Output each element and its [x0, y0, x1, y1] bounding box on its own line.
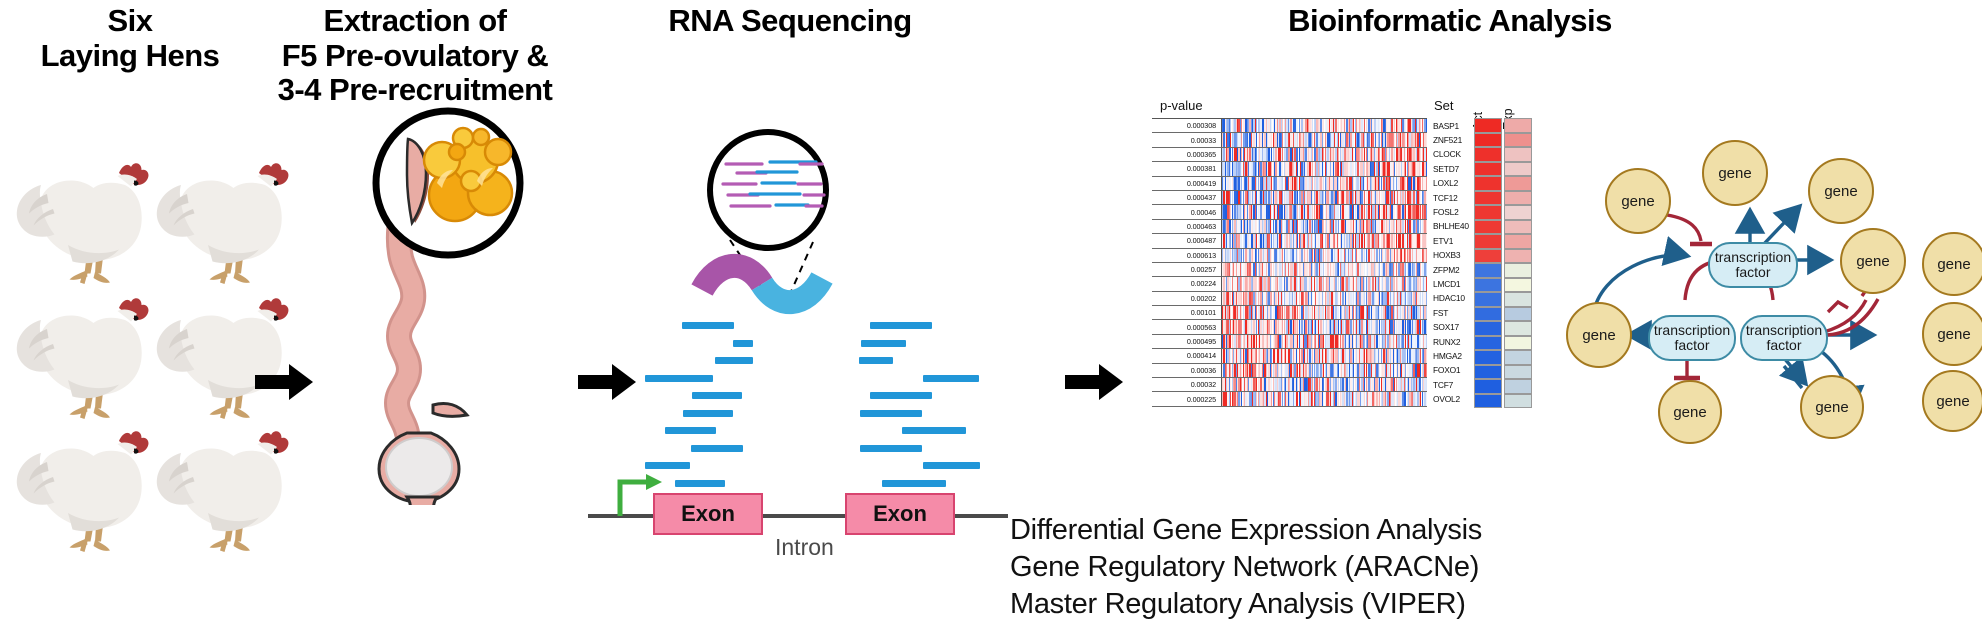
heatmap-signature-strip — [1221, 205, 1427, 218]
heatmap-signature-strip — [1221, 335, 1427, 348]
transcription-factor-node[interactable]: transcriptionfactor — [1648, 315, 1736, 361]
heatmap-tick — [1426, 392, 1427, 405]
tf-label: transcriptionfactor — [1654, 323, 1730, 354]
read-segment — [882, 480, 946, 487]
heatmap-tick — [1426, 378, 1427, 391]
heatmap-gene-label: CLOCK — [1433, 149, 1461, 159]
gene-node-label: gene — [1856, 253, 1889, 270]
heatmap-signature-strip — [1221, 392, 1427, 405]
heatmap-row: 0.000365CLOCK — [1152, 148, 1427, 162]
read-segment — [645, 375, 713, 382]
heatmap-pvalue: 0.00036 — [1152, 366, 1221, 375]
heatmap-row: 0.00224LMCD1 — [1152, 277, 1427, 291]
expression-cell — [1504, 394, 1532, 409]
activity-cell — [1474, 191, 1502, 206]
heatmap-signature-strip — [1221, 148, 1427, 161]
heatmap-row: 0.00036FOXO1 — [1152, 364, 1427, 378]
heatmap-row: 0.00257ZFPM2 — [1152, 263, 1427, 277]
heatmap-tick — [1426, 263, 1427, 276]
transcription-factor-node[interactable]: transcriptionfactor — [1708, 242, 1798, 288]
expression-cell — [1504, 162, 1532, 177]
heatmap-gene-label: TCF7 — [1433, 380, 1453, 390]
heatmap-tick — [1426, 364, 1427, 377]
read-segment — [860, 410, 922, 417]
heatmap-tick — [1426, 133, 1427, 146]
expression-cell — [1504, 278, 1532, 293]
gene-node-label: gene — [1815, 399, 1848, 416]
read-segment — [665, 427, 716, 434]
heatmap-header-set: Set — [1434, 98, 1454, 113]
activity-cell — [1474, 118, 1502, 133]
heatmap-signature-strip — [1221, 119, 1427, 132]
read-segment — [861, 340, 906, 347]
read-segment — [902, 427, 966, 434]
workflow-figure: Six Laying Hens Extraction of F5 Pre-ovu… — [0, 0, 1982, 644]
heatmap-row: 0.000495RUNX2 — [1152, 335, 1427, 349]
read-segment — [682, 322, 734, 329]
heatmap-pvalue: 0.00224 — [1152, 279, 1221, 288]
activity-cell — [1474, 307, 1502, 322]
hen-icon — [148, 408, 298, 558]
title-line: 3-4 Pre-recruitment — [245, 73, 585, 108]
heatmap-pvalue: 0.000495 — [1152, 337, 1221, 346]
activity-cell — [1474, 278, 1502, 293]
heatmap-signature-strip — [1221, 277, 1427, 290]
activity-cell — [1474, 365, 1502, 380]
heatmap-signature-strip — [1221, 177, 1427, 190]
heatmap-pvalue: 0.000437 — [1152, 193, 1221, 202]
read-segment — [715, 357, 753, 364]
read-segment — [859, 357, 893, 364]
activity-cell — [1474, 394, 1502, 409]
heatmap-row: 0.000487ETV1 — [1152, 234, 1427, 248]
exon-right: Exon — [845, 493, 955, 535]
expression-cell — [1504, 176, 1532, 191]
transcript-ribbon-icon — [702, 266, 822, 302]
heatmap-gene-label: FOXO1 — [1433, 365, 1460, 375]
intron-label: Intron — [775, 534, 834, 561]
heatmap-pvalue: 0.00257 — [1152, 265, 1221, 274]
heatmap-tick — [1426, 119, 1427, 132]
heatmap-gene-label: HMGA2 — [1433, 351, 1462, 361]
flow-arrow-icon — [1065, 362, 1125, 402]
heatmap-gene-label: HOXB3 — [1433, 250, 1460, 260]
expression-cell — [1504, 205, 1532, 220]
expression-cell — [1504, 292, 1532, 307]
read-segment — [691, 445, 743, 452]
heatmap-gene-label: SOX17 — [1433, 322, 1459, 332]
activity-cell — [1474, 336, 1502, 351]
read-segment — [870, 322, 932, 329]
exon-left: Exon — [653, 493, 763, 535]
read-segment — [645, 462, 690, 469]
expression-cell — [1504, 379, 1532, 394]
heatmap-tick — [1426, 349, 1427, 362]
analysis-line: Master Regulatory Analysis (VIPER) — [1010, 586, 1630, 623]
heatmap-gene-label: FOSL2 — [1433, 207, 1459, 217]
heatmap-tick — [1426, 320, 1427, 333]
heatmap-tick — [1426, 220, 1427, 233]
activity-cell — [1474, 220, 1502, 235]
gene-node[interactable]: gene — [1566, 302, 1632, 368]
follicle-inset — [376, 111, 520, 255]
gene-node-label: gene — [1937, 256, 1970, 273]
heatmap-tick — [1426, 205, 1427, 218]
heatmap-tick — [1426, 177, 1427, 190]
heatmap-signature-strip — [1221, 306, 1427, 319]
tf-label: transcriptionfactor — [1715, 250, 1791, 281]
panel-title-bioinformatic: Bioinformatic Analysis — [1100, 4, 1800, 39]
heatmap-signature-strip — [1221, 320, 1427, 333]
activity-cell — [1474, 321, 1502, 336]
gene-node-label: gene — [1582, 327, 1615, 344]
heatmap-signature-strip — [1221, 162, 1427, 175]
heatmap-signature-strip — [1221, 249, 1427, 262]
activity-cell — [1474, 147, 1502, 162]
heatmap-signature-strip — [1221, 234, 1427, 247]
read-segment — [675, 480, 725, 487]
hen-icon — [8, 140, 158, 290]
title-line: F5 Pre-ovulatory & — [245, 39, 585, 74]
heatmap-signature-strip — [1221, 378, 1427, 391]
gene-node-label: gene — [1936, 393, 1969, 410]
heatmap-signature-strip — [1221, 263, 1427, 276]
gene-node-label: gene — [1621, 193, 1654, 210]
hen-icon — [148, 275, 298, 425]
act-exp-columns — [1474, 118, 1534, 408]
heatmap-tick — [1426, 292, 1427, 305]
heatmap-row: 0.00101FST — [1152, 306, 1427, 320]
activity-cell — [1474, 162, 1502, 177]
gene-node[interactable]: gene — [1922, 302, 1982, 366]
activity-cell — [1474, 234, 1502, 249]
title-line: Bioinformatic Analysis — [1100, 4, 1800, 39]
activity-cell — [1474, 292, 1502, 307]
heatmap-row: 0.000308BASP1 — [1152, 119, 1427, 133]
heatmap-row: 0.000563SOX17 — [1152, 320, 1427, 334]
heatmap-header-pvalue: p-value — [1160, 98, 1203, 113]
heatmap-row: 0.00202HDAC10 — [1152, 292, 1427, 306]
heatmap-signature-strip — [1221, 349, 1427, 362]
heatmap-gene-label: LOXL2 — [1433, 178, 1458, 188]
title-line: Six — [0, 4, 260, 39]
panel-title-rnaseq: RNA Sequencing — [600, 4, 980, 39]
heatmap-row: 0.000613HOXB3 — [1152, 249, 1427, 263]
gene-node-label: gene — [1718, 165, 1751, 182]
heatmap-gene-label: RUNX2 — [1433, 337, 1460, 347]
heatmap-pvalue: 0.000563 — [1152, 323, 1221, 332]
heatmap-gene-label: OVOL2 — [1433, 394, 1460, 404]
gene-node-label: gene — [1824, 183, 1857, 200]
heatmap-grid: 0.000308BASP10.00033ZNF5210.000365CLOCK0… — [1152, 118, 1427, 409]
expression-cell — [1504, 336, 1532, 351]
heatmap-row: 0.000419LOXL2 — [1152, 177, 1427, 191]
hen-icon — [8, 275, 158, 425]
gene-regulatory-network: gene gene gene gene gene gene gene gene … — [1540, 120, 1982, 420]
heatmap-signature-strip — [1221, 364, 1427, 377]
activity-cell — [1474, 249, 1502, 264]
gene-node[interactable]: gene — [1808, 158, 1874, 224]
expression-cell — [1504, 249, 1532, 264]
heatmap-tick — [1426, 306, 1427, 319]
heatmap-gene-label: BHLHE40 — [1433, 221, 1469, 231]
heatmap-tick — [1426, 162, 1427, 175]
heatmap-pvalue: 0.000308 — [1152, 121, 1221, 130]
read-segment — [860, 445, 922, 452]
hen-icon — [8, 408, 158, 558]
heatmap-gene-label: ZNF521 — [1433, 135, 1462, 145]
heatmap-tick — [1426, 335, 1427, 348]
heatmap-pvalue: 0.000487 — [1152, 236, 1221, 245]
heatmap-pvalue: 0.00033 — [1152, 136, 1221, 145]
tf-label: transcriptionfactor — [1746, 323, 1822, 354]
heatmap-signature-strip — [1221, 191, 1427, 204]
read-segment — [692, 392, 742, 399]
heatmap-pvalue: 0.00032 — [1152, 380, 1221, 389]
expression-cell — [1504, 350, 1532, 365]
hen-icon — [148, 140, 298, 290]
analysis-line: Differential Gene Expression Analysis — [1010, 512, 1630, 549]
activity-cell — [1474, 176, 1502, 191]
activity-cell — [1474, 133, 1502, 148]
gene-node[interactable]: gene — [1658, 380, 1722, 444]
expression-cell — [1504, 307, 1532, 322]
heatmap-pvalue: 0.000225 — [1152, 395, 1221, 404]
heatmap-row: 0.00046FOSL2 — [1152, 205, 1427, 219]
heatmap-signature-strip — [1221, 133, 1427, 146]
heatmap-gene-label: ETV1 — [1433, 236, 1453, 246]
heatmap-tick — [1426, 191, 1427, 204]
activity-cell — [1474, 263, 1502, 278]
heatmap-row: 0.000463BHLHE40 — [1152, 220, 1427, 234]
heatmap-pvalue: 0.000365 — [1152, 150, 1221, 159]
gene-node[interactable]: gene — [1922, 370, 1982, 432]
expression-cell — [1504, 321, 1532, 336]
heatmap-signature-strip — [1221, 292, 1427, 305]
heatmap-pvalue: 0.000419 — [1152, 179, 1221, 188]
expression-cell — [1504, 263, 1532, 278]
heatmap-tick — [1426, 249, 1427, 262]
heatmap-gene-label: LMCD1 — [1433, 279, 1460, 289]
heatmap-pvalue: 0.000463 — [1152, 222, 1221, 231]
expression-cell — [1504, 191, 1532, 206]
heatmap-pvalue: 0.000613 — [1152, 251, 1221, 260]
read-segment — [923, 375, 979, 382]
heatmap-gene-label: ZFPM2 — [1433, 265, 1459, 275]
expression-cell — [1504, 365, 1532, 380]
heatmap-signature-strip — [1221, 220, 1427, 233]
activity-cell — [1474, 379, 1502, 394]
heatmap-gene-label: FST — [1433, 308, 1448, 318]
activity-cell — [1474, 205, 1502, 220]
gene-node-label: gene — [1937, 326, 1970, 343]
read-segment — [683, 410, 733, 417]
expression-cell — [1504, 234, 1532, 249]
rnaseq-illustration: Exon Exon Intron — [590, 100, 1010, 620]
heatmap-row: 0.000414HMGA2 — [1152, 349, 1427, 363]
heatmap-gene-label: HDAC10 — [1433, 293, 1465, 303]
panel-title-extraction: Extraction of F5 Pre-ovulatory & 3-4 Pre… — [245, 4, 585, 108]
expression-cell — [1504, 133, 1532, 148]
heatmap-tick — [1426, 148, 1427, 161]
title-line: Laying Hens — [0, 39, 260, 74]
gene-node[interactable]: gene — [1702, 140, 1768, 206]
heatmap-row: 0.00032TCF7 — [1152, 378, 1427, 392]
expression-cell — [1504, 118, 1532, 133]
panel-title-hens: Six Laying Hens — [0, 4, 260, 73]
heatmap-pvalue: 0.000414 — [1152, 351, 1221, 360]
heatmap-gene-label: TCF12 — [1433, 193, 1458, 203]
heatmap-row: 0.000437TCF12 — [1152, 191, 1427, 205]
heatmap-gene-label: SETD7 — [1433, 164, 1459, 174]
heatmap-pvalue: 0.00202 — [1152, 294, 1221, 303]
gene-node-label: gene — [1673, 404, 1706, 421]
heatmap-pvalue: 0.00046 — [1152, 208, 1221, 217]
expression-cell — [1504, 220, 1532, 235]
title-line: Extraction of — [245, 4, 585, 39]
gene-node[interactable]: gene — [1800, 375, 1864, 439]
expression-cell — [1504, 147, 1532, 162]
transcription-factor-node[interactable]: transcriptionfactor — [1740, 315, 1828, 361]
heatmap-gene-label: BASP1 — [1433, 121, 1459, 131]
oviduct-illustration — [285, 105, 555, 505]
gene-node[interactable]: gene — [1922, 232, 1982, 296]
heatmap-tick — [1426, 277, 1427, 290]
analysis-line: Gene Regulatory Network (ARACNe) — [1010, 549, 1630, 586]
read-segment — [870, 392, 932, 399]
title-line: RNA Sequencing — [600, 4, 980, 39]
heatmap-pvalue: 0.00101 — [1152, 308, 1221, 317]
gene-node[interactable]: gene — [1840, 228, 1906, 294]
gene-node[interactable]: gene — [1605, 168, 1671, 234]
heatmap-row: 0.000225OVOL2 — [1152, 392, 1427, 406]
heatmap-row: 0.00033ZNF521 — [1152, 133, 1427, 147]
read-segment — [733, 340, 753, 347]
heatmap-row: 0.000381SETD7 — [1152, 162, 1427, 176]
read-segment — [923, 462, 980, 469]
analysis-method-list: Differential Gene Expression Analysis Ge… — [1010, 512, 1630, 623]
heatmap-tick — [1426, 234, 1427, 247]
heatmap-pvalue: 0.000381 — [1152, 164, 1221, 173]
activity-cell — [1474, 350, 1502, 365]
